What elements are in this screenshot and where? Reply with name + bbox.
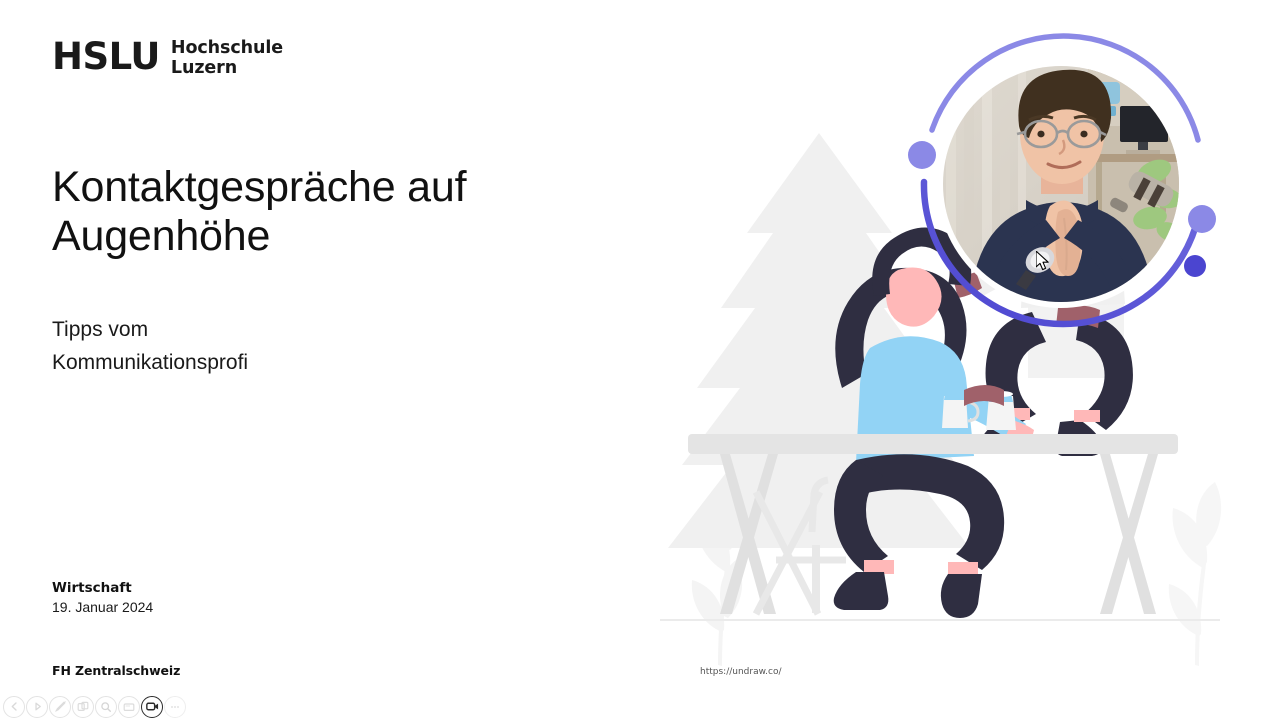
search-icon xyxy=(100,701,112,713)
screen-icon xyxy=(123,701,135,713)
logo-wordmark: HSLU xyxy=(52,38,160,76)
more-options-button[interactable] xyxy=(164,696,186,718)
video-camera-icon xyxy=(146,701,159,712)
ring-dot-right xyxy=(1188,205,1216,233)
presentation-window: HSLU Hochschule Luzern Kontaktgespräche … xyxy=(0,0,1280,720)
date-label: 19. Januar 2024 xyxy=(52,599,153,615)
pen-tool-button[interactable] xyxy=(49,696,71,718)
hslu-logo: HSLU Hochschule Luzern xyxy=(52,38,283,78)
logo-subtext: Hochschule Luzern xyxy=(171,38,283,78)
slide-canvas: HSLU Hochschule Luzern Kontaktgespräche … xyxy=(0,0,1280,693)
zoom-button[interactable] xyxy=(95,696,117,718)
camera-button[interactable] xyxy=(141,696,163,718)
pen-icon xyxy=(54,700,67,713)
illustration-credit: https://undraw.co/ xyxy=(700,667,781,677)
slide-title: Kontaktgespräche auf Augenhöhe xyxy=(52,163,652,261)
presenter-view-button[interactable] xyxy=(118,696,140,718)
chevron-right-icon xyxy=(32,701,43,712)
logo-line-1: Hochschule xyxy=(171,39,283,59)
presenter-video-bubble[interactable] xyxy=(898,22,1224,340)
slide-overview-button[interactable] xyxy=(72,696,94,718)
next-slide-button[interactable] xyxy=(26,696,48,718)
chevron-left-icon xyxy=(9,701,20,712)
slide-subtitle: Tipps vom Kommunikationsprofi xyxy=(52,313,572,379)
previous-slide-button[interactable] xyxy=(3,696,25,718)
presentation-toolbar xyxy=(0,693,1280,720)
ring-dot-bottom xyxy=(1184,255,1206,277)
logo-line-2: Luzern xyxy=(171,59,283,79)
plant-leaf-right-decoration xyxy=(1169,482,1221,666)
grid-icon xyxy=(77,701,89,713)
department-label: Wirtschaft xyxy=(52,580,132,596)
ellipsis-icon xyxy=(169,701,181,713)
organisation-label: FH Zentralschweiz xyxy=(52,663,180,678)
ring-dot-left xyxy=(908,141,936,169)
